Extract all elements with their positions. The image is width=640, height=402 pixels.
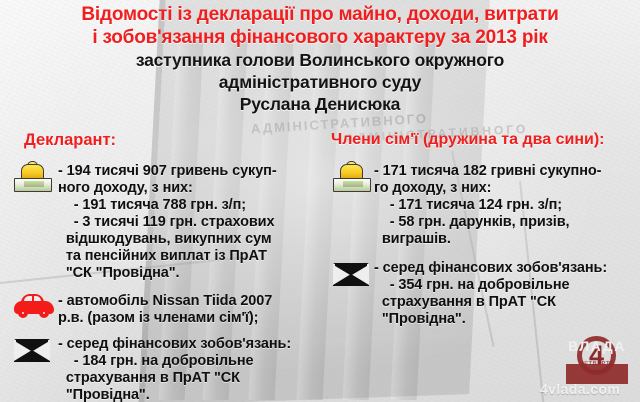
- declarant-column-heading: Декларант:: [24, 131, 116, 150]
- title-line-black-1: заступника голови Волинського окружного: [0, 49, 640, 71]
- declarant-vehicle-entry: - автомобіль Nissan Tiida 2007 р.в. (раз…: [58, 293, 272, 327]
- page-title: Відомості із декларації про майно, доход…: [0, 3, 640, 115]
- site-watermark: 4vlada.com: [540, 381, 640, 397]
- envelope-icon: [14, 339, 50, 362]
- family-obligations-entry: - серед фінансових зобов'язань: - 354 гр…: [374, 260, 607, 328]
- declarant-income-entry: - 194 тисячі 907 гривень сукуп- ного дох…: [58, 163, 277, 282]
- envelope-icon-flap-left: [14, 339, 32, 361]
- money-icon: [14, 162, 52, 192]
- declarant-obligations-entry: - серед фінансових зобов'язань: - 184 гр…: [58, 336, 291, 402]
- car-icon-wheel-front: [18, 308, 28, 318]
- logo-word: ВЛАДА: [566, 336, 628, 386]
- family-income-entry: - 171 тисяча 182 гривні сукупно- го дохо…: [374, 163, 601, 248]
- title-line-red-1: Відомості із декларації про майно, доход…: [0, 3, 640, 26]
- envelope-icon: [333, 263, 369, 286]
- envelope-icon-flap-left: [333, 263, 351, 285]
- money-icon-bills: [14, 178, 52, 192]
- declaration-infographic: АДМІНІСТРАТИВНОГО АДМІНІСТРАТИВНОГО Відо…: [0, 0, 640, 402]
- car-icon: [14, 293, 54, 318]
- title-line-black-2: адміністративного суду: [0, 71, 640, 93]
- title-line-red-2: і зобов'язання фінансового характеру за …: [0, 26, 640, 49]
- money-icon: [333, 162, 371, 192]
- site-logo[interactable]: 4 ЧЕТВЕРТА ВЛАДА: [566, 336, 628, 386]
- family-column-heading: Члени сім'ї (дружина та два сини):: [331, 131, 605, 149]
- car-icon-wheel-rear: [39, 308, 49, 318]
- envelope-icon-flap-right: [351, 263, 369, 285]
- title-line-black-3: Руслана Денисюка: [0, 93, 640, 115]
- envelope-icon-flap-right: [32, 339, 50, 361]
- money-icon-bills: [333, 178, 371, 192]
